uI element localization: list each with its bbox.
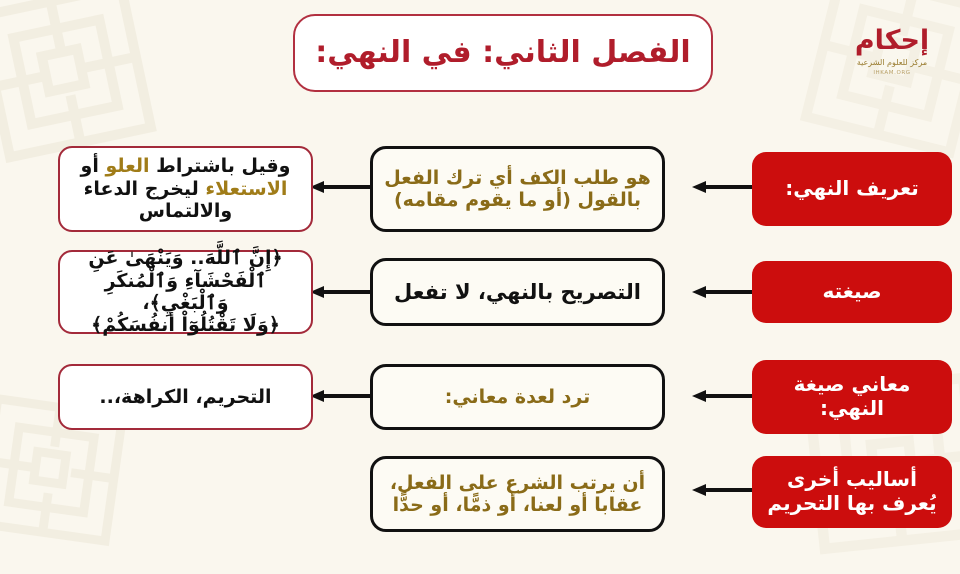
row-3-arrow-left (310, 390, 362, 402)
row-4-arrow-right (692, 484, 744, 496)
row-1-right-connector (744, 185, 752, 189)
row-4-label-text: أساليب أخرى يُعرف بها التحريم (762, 468, 942, 515)
row-1-left-part2: أو (81, 155, 106, 177)
row-2-middle-box[interactable]: التصريح بالنهي، لا تفعل (370, 258, 665, 326)
row-1-left-text: وقيل باشتراط العلو أو الاستعلاء ليخرج ال… (70, 155, 301, 222)
row-2-arrow-right (692, 286, 744, 298)
brand-logo: إحكام مركز للعلوم الشرعية IHKAM.ORG (836, 12, 948, 90)
row-2-right-connector (744, 290, 752, 294)
row-4-label-box[interactable]: أساليب أخرى يُعرف بها التحريم (752, 456, 952, 528)
row-2-label-box[interactable]: صيغته (752, 261, 952, 323)
logo-url: IHKAM.ORG (873, 70, 910, 76)
row-3-middle-left-connector (362, 394, 370, 398)
row-1-middle-left-connector (362, 185, 370, 189)
row-1-arrow-right (692, 181, 744, 193)
row-4-middle-box[interactable]: أن يرتب الشرع على الفعل، عقابا أو لعنا، … (370, 456, 665, 532)
row-2-quran-line-2: ٱلْفَحْشَآءِ وَٱلْمُنكَرِ وَٱلْبَغْيِ﴾، (70, 270, 301, 315)
slide-title-box: الفصل الثاني: في النهي: (293, 14, 713, 92)
row-3-middle-box[interactable]: ترد لعدة معاني: (370, 364, 665, 430)
logo-subtitle: مركز للعلوم الشرعية (857, 58, 927, 68)
row-2-quran-line-1: ﴿إِنَّ ٱللَّهَ.. وَيَنْهَىٰ عَنِ (70, 247, 301, 269)
row-3-label-text: معاني صيغة النهي: (762, 373, 942, 420)
row-2-left-text: ﴿إِنَّ ٱللَّهَ.. وَيَنْهَىٰ عَنِ ٱلْفَحْ… (70, 247, 301, 337)
row-1-arrow-left (310, 181, 362, 193)
row-1-middle-box[interactable]: هو طلب الكف أي ترك الفعل بالقول (أو ما ي… (370, 146, 665, 232)
row-2-left-box[interactable]: ﴿إِنَّ ٱللَّهَ.. وَيَنْهَىٰ عَنِ ٱلْفَحْ… (58, 250, 313, 334)
row-1-left-part1: وقيل باشتراط (150, 155, 291, 177)
row-1-label-text: تعريف النهي: (762, 177, 942, 201)
page-title: الفصل الثاني: في النهي: (315, 36, 690, 71)
row-2-arrow-left (310, 286, 362, 298)
row-2-middle-left-connector (362, 290, 370, 294)
row-2-quran-line-3: ﴿وَلَا تَقْتُلُوٓاْ أَنفُسَكُمْ﴾ (70, 314, 301, 336)
row-2-middle-text: التصريح بالنهي، لا تفعل (383, 280, 652, 305)
row-3-left-text: التحريم، الكراهة،.. (70, 386, 301, 408)
slide-canvas: الفصل الثاني: في النهي: إحكام مركز للعلو… (0, 0, 960, 540)
row-3-right-connector (744, 394, 752, 398)
row-3-middle-text: ترد لعدة معاني: (383, 386, 652, 408)
row-4-middle-text: أن يرتب الشرع على الفعل، عقابا أو لعنا، … (383, 472, 652, 517)
row-3-arrow-right (692, 390, 744, 402)
row-1-label-box[interactable]: تعريف النهي: (752, 152, 952, 226)
row-3-label-box[interactable]: معاني صيغة النهي: (752, 360, 952, 434)
row-4-right-connector (744, 488, 752, 492)
row-2-label-text: صيغته (762, 280, 942, 304)
row-1-left-gold2: الاستعلاء (205, 178, 287, 200)
row-1-left-gold1: العلو (105, 155, 149, 177)
row-1-middle-text: هو طلب الكف أي ترك الفعل بالقول (أو ما ي… (383, 167, 652, 212)
row-1-left-box[interactable]: وقيل باشتراط العلو أو الاستعلاء ليخرج ال… (58, 146, 313, 232)
logo-wordmark: إحكام (855, 27, 929, 54)
row-3-left-box[interactable]: التحريم، الكراهة،.. (58, 364, 313, 430)
